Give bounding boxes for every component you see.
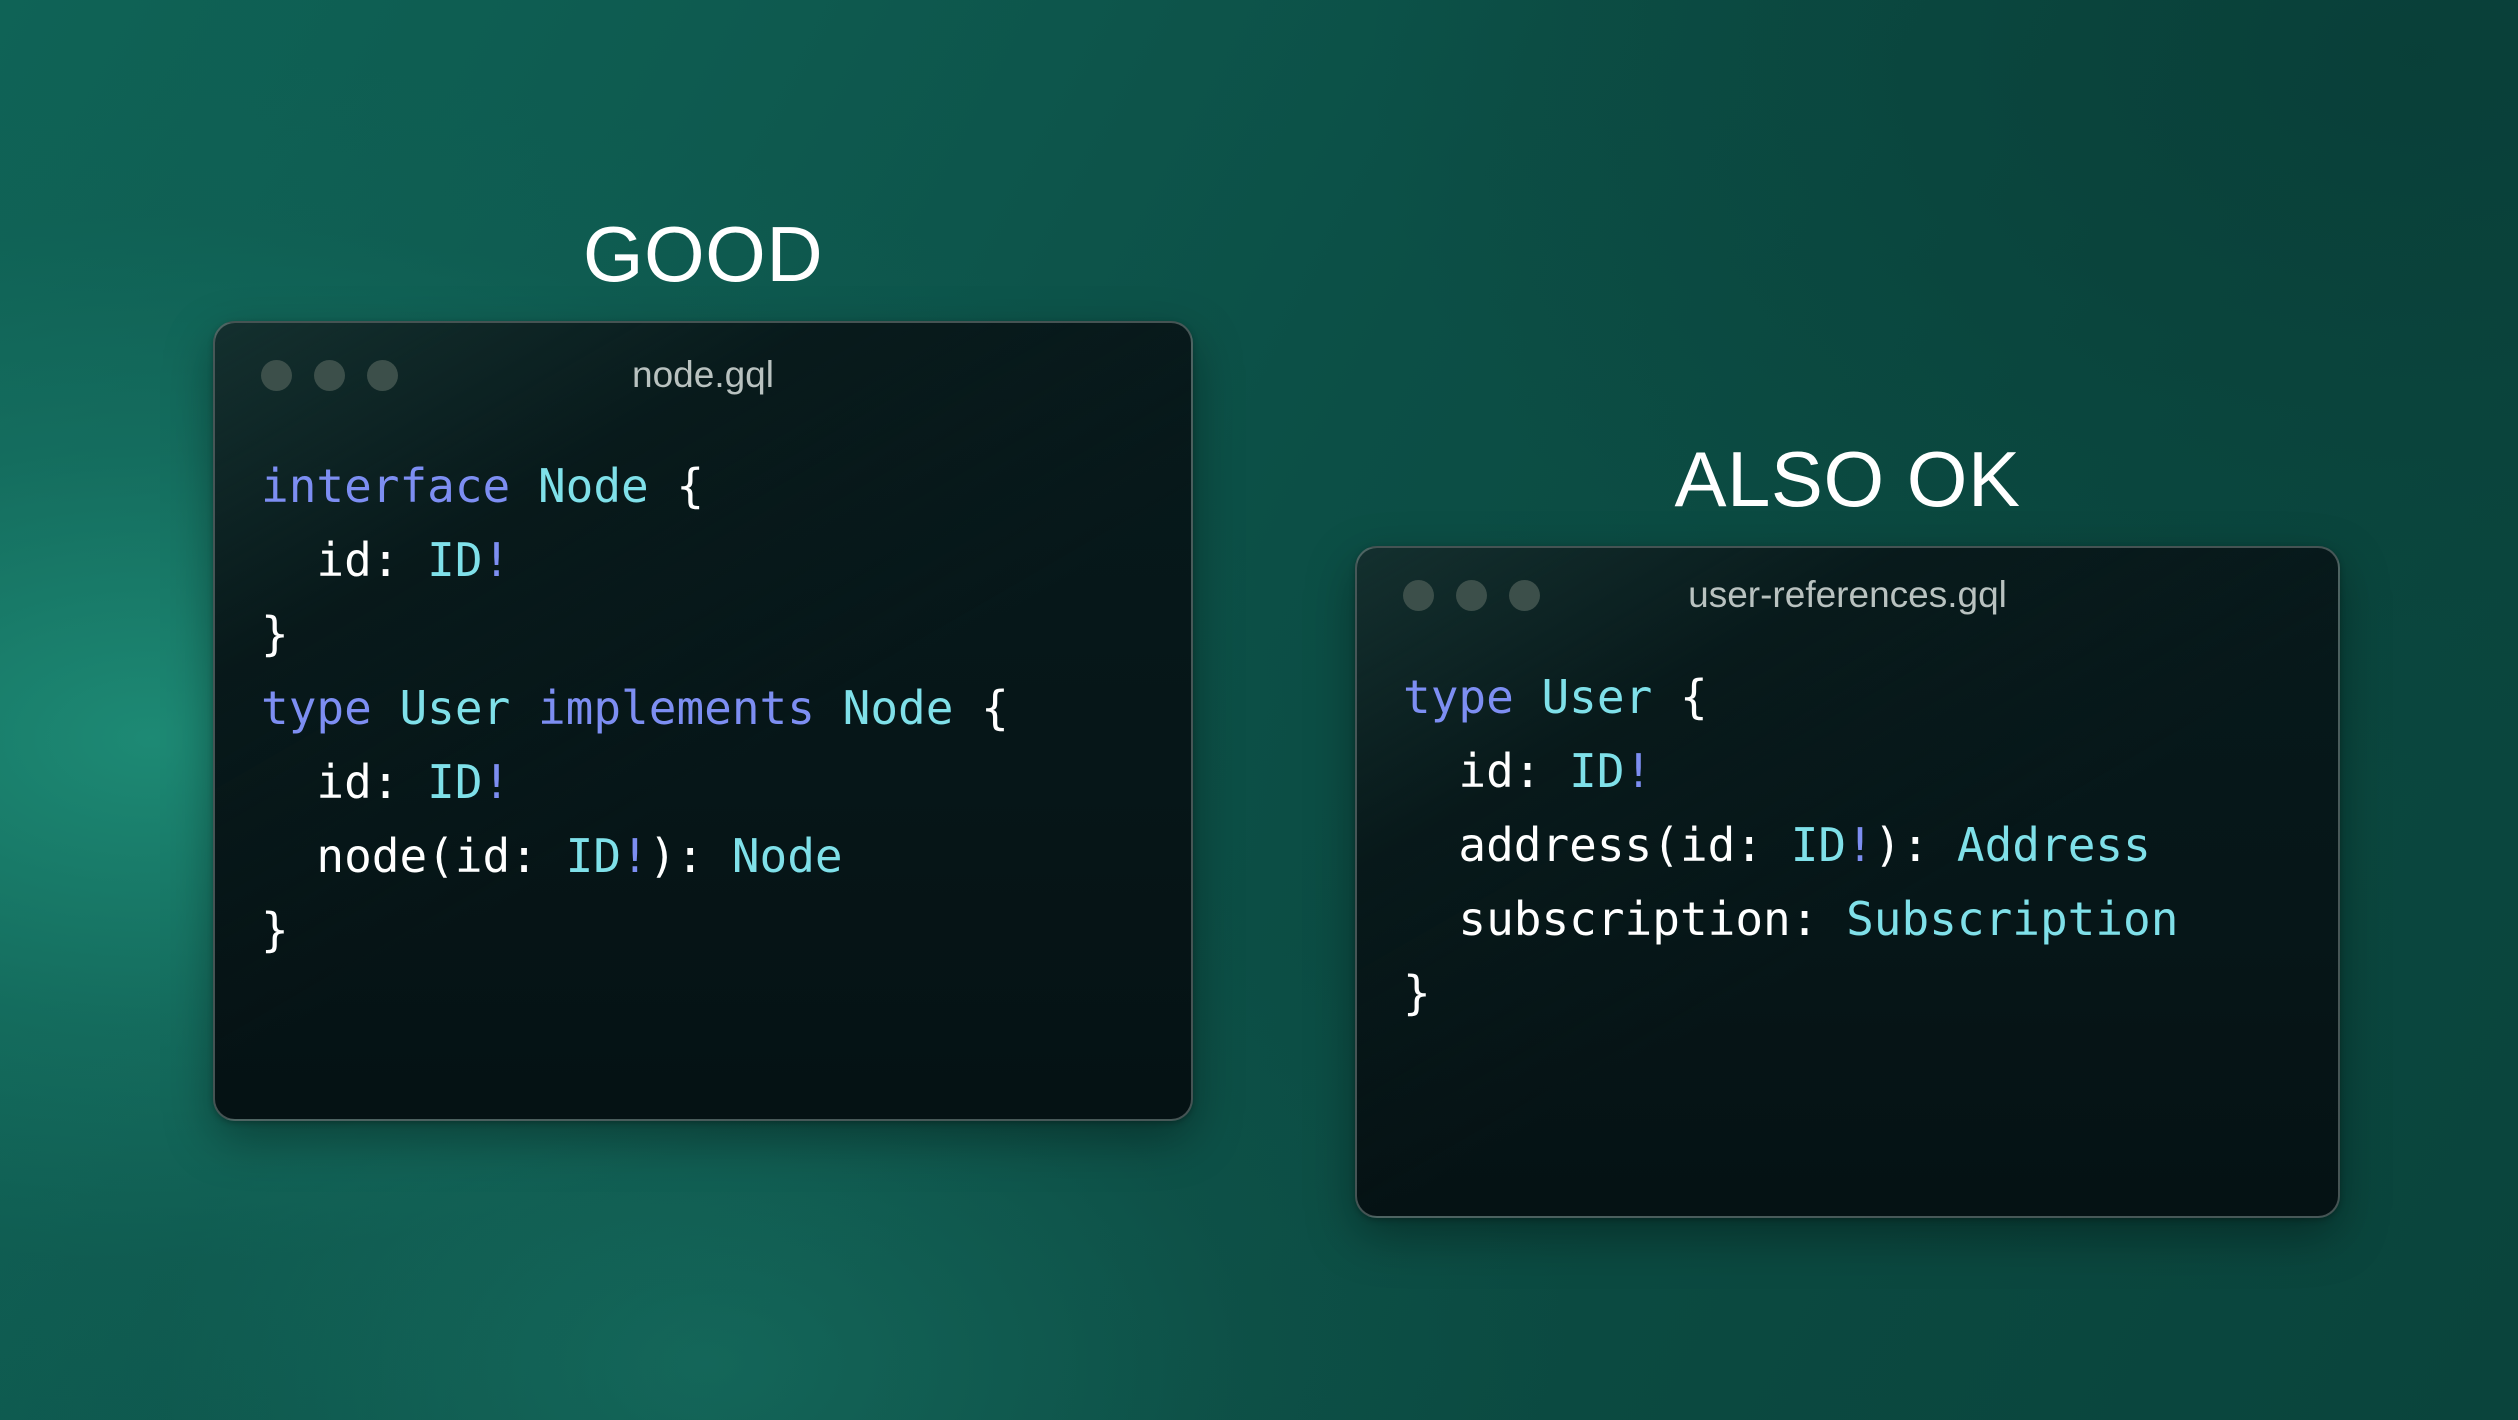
minimize-dot-icon[interactable] (314, 360, 345, 391)
minimize-dot-icon[interactable] (1456, 580, 1487, 611)
code-token: } (261, 607, 289, 661)
code-token: id: (261, 755, 427, 809)
code-token: } (261, 903, 289, 957)
code-line: interface Node { (261, 449, 1145, 523)
code-token: ! (621, 829, 649, 883)
code-token (1514, 670, 1542, 724)
code-token: id: (261, 533, 427, 587)
code-token: interface (261, 459, 510, 513)
code-token: { (953, 681, 1008, 735)
traffic-lights-good (261, 360, 398, 391)
window-titlebar-good: node.gql (215, 323, 1191, 427)
panel-heading-also-ok: ALSO OK (1355, 440, 2340, 518)
code-token: ID (427, 533, 482, 587)
code-line: } (261, 597, 1145, 671)
code-token: ! (1846, 818, 1874, 872)
code-token: ! (1625, 744, 1653, 798)
code-token (510, 681, 538, 735)
code-token: Address (1957, 818, 2151, 872)
code-token: ID (566, 829, 621, 883)
code-token: Node (538, 459, 649, 513)
code-line: type User implements Node { (261, 671, 1145, 745)
comparison-stage: GOOD node.gql interface Node { id: ID!}t… (0, 0, 2518, 1420)
code-line: id: ID! (261, 745, 1145, 819)
traffic-lights-also-ok (1403, 580, 1540, 611)
code-token: type (261, 681, 372, 735)
code-token: Subscription (1846, 892, 2178, 946)
panel-good: GOOD node.gql interface Node { id: ID!}t… (213, 215, 1193, 1121)
code-token: User (1541, 670, 1652, 724)
code-block-also-ok[interactable]: type User { id: ID! address(id: ID!): Ad… (1357, 642, 2338, 1030)
panel-heading-good: GOOD (213, 215, 1193, 293)
code-line: node(id: ID!): Node (261, 819, 1145, 893)
code-token: } (1403, 966, 1431, 1020)
window-filename-good: node.gql (632, 354, 774, 396)
code-token: address(id: (1403, 818, 1791, 872)
code-token: subscription: (1403, 892, 1846, 946)
code-token: ): (649, 829, 732, 883)
code-token: node(id: (261, 829, 566, 883)
code-token: User (399, 681, 510, 735)
code-token: ID (1569, 744, 1624, 798)
close-dot-icon[interactable] (261, 360, 292, 391)
code-block-good[interactable]: interface Node { id: ID!}type User imple… (215, 427, 1191, 967)
zoom-dot-icon[interactable] (367, 360, 398, 391)
window-titlebar-also-ok: user-references.gql (1357, 548, 2338, 642)
code-line: subscription: Subscription (1403, 882, 2292, 956)
code-line: address(id: ID!): Address (1403, 808, 2292, 882)
code-line: id: ID! (1403, 734, 2292, 808)
code-token: ): (1874, 818, 1957, 872)
code-token (372, 681, 400, 735)
window-filename-also-ok: user-references.gql (1688, 574, 2007, 616)
code-window-good[interactable]: node.gql interface Node { id: ID!}type U… (213, 321, 1193, 1121)
code-token: ID (427, 755, 482, 809)
code-token: implements (538, 681, 815, 735)
code-token: ID (1791, 818, 1846, 872)
code-line: type User { (1403, 660, 2292, 734)
code-token: { (1652, 670, 1707, 724)
code-token: { (649, 459, 704, 513)
panel-also-ok: ALSO OK user-references.gql type User { … (1355, 440, 2340, 1218)
code-line: } (261, 893, 1145, 967)
code-token (815, 681, 843, 735)
code-token: type (1403, 670, 1514, 724)
code-token: id: (1403, 744, 1569, 798)
zoom-dot-icon[interactable] (1509, 580, 1540, 611)
close-dot-icon[interactable] (1403, 580, 1434, 611)
code-token: ! (483, 755, 511, 809)
code-line: } (1403, 956, 2292, 1030)
code-line: id: ID! (261, 523, 1145, 597)
code-window-also-ok[interactable]: user-references.gql type User { id: ID! … (1355, 546, 2340, 1218)
code-token: ! (483, 533, 511, 587)
code-token (510, 459, 538, 513)
code-token: Node (732, 829, 843, 883)
code-token: Node (843, 681, 954, 735)
